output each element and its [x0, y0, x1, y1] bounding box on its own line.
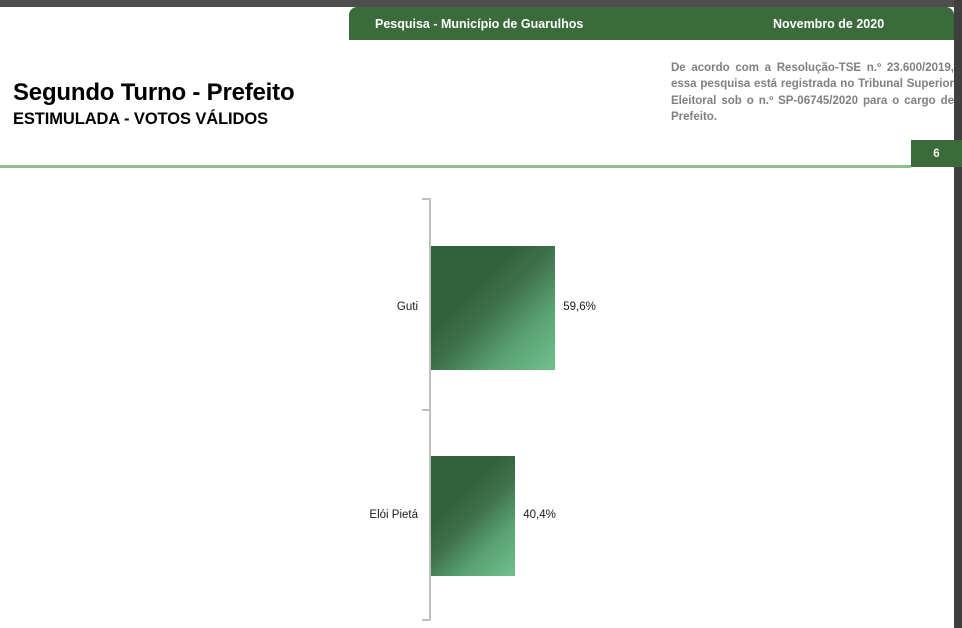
header-band: Pesquisa - Município de Guarulhos Novemb… — [349, 7, 954, 40]
category-label-1: Elói Pietá — [300, 509, 418, 521]
page-subtitle: ESTIMULADA - VOTOS VÁLIDOS — [13, 110, 294, 129]
header-band-date: Novembro de 2020 — [773, 17, 884, 31]
bar-0 — [431, 246, 555, 370]
axis-tick-mid — [422, 409, 430, 411]
page-title: Segundo Turno - Prefeito — [13, 80, 294, 107]
axis-tick-top — [422, 198, 430, 200]
bar-chart: Guti59,6%Elói Pietá40,4% — [0, 168, 954, 628]
value-label-0: 59,6% — [563, 301, 596, 313]
page-number-badge: 6 — [911, 140, 962, 167]
category-label-0: Guti — [300, 301, 418, 313]
registration-disclaimer: De acordo com a Resolução-TSE n.º 23.600… — [671, 60, 954, 125]
header-band-title: Pesquisa - Município de Guarulhos — [375, 17, 583, 31]
slide-canvas: Pesquisa - Município de Guarulhos Novemb… — [0, 0, 962, 628]
bar-1 — [431, 456, 515, 576]
axis-tick-bottom — [422, 619, 430, 621]
window-top-strip — [0, 0, 962, 7]
value-label-1: 40,4% — [523, 509, 556, 521]
page-title-block: Segundo Turno - Prefeito ESTIMULADA - VO… — [13, 80, 294, 129]
window-right-strip — [954, 0, 962, 628]
